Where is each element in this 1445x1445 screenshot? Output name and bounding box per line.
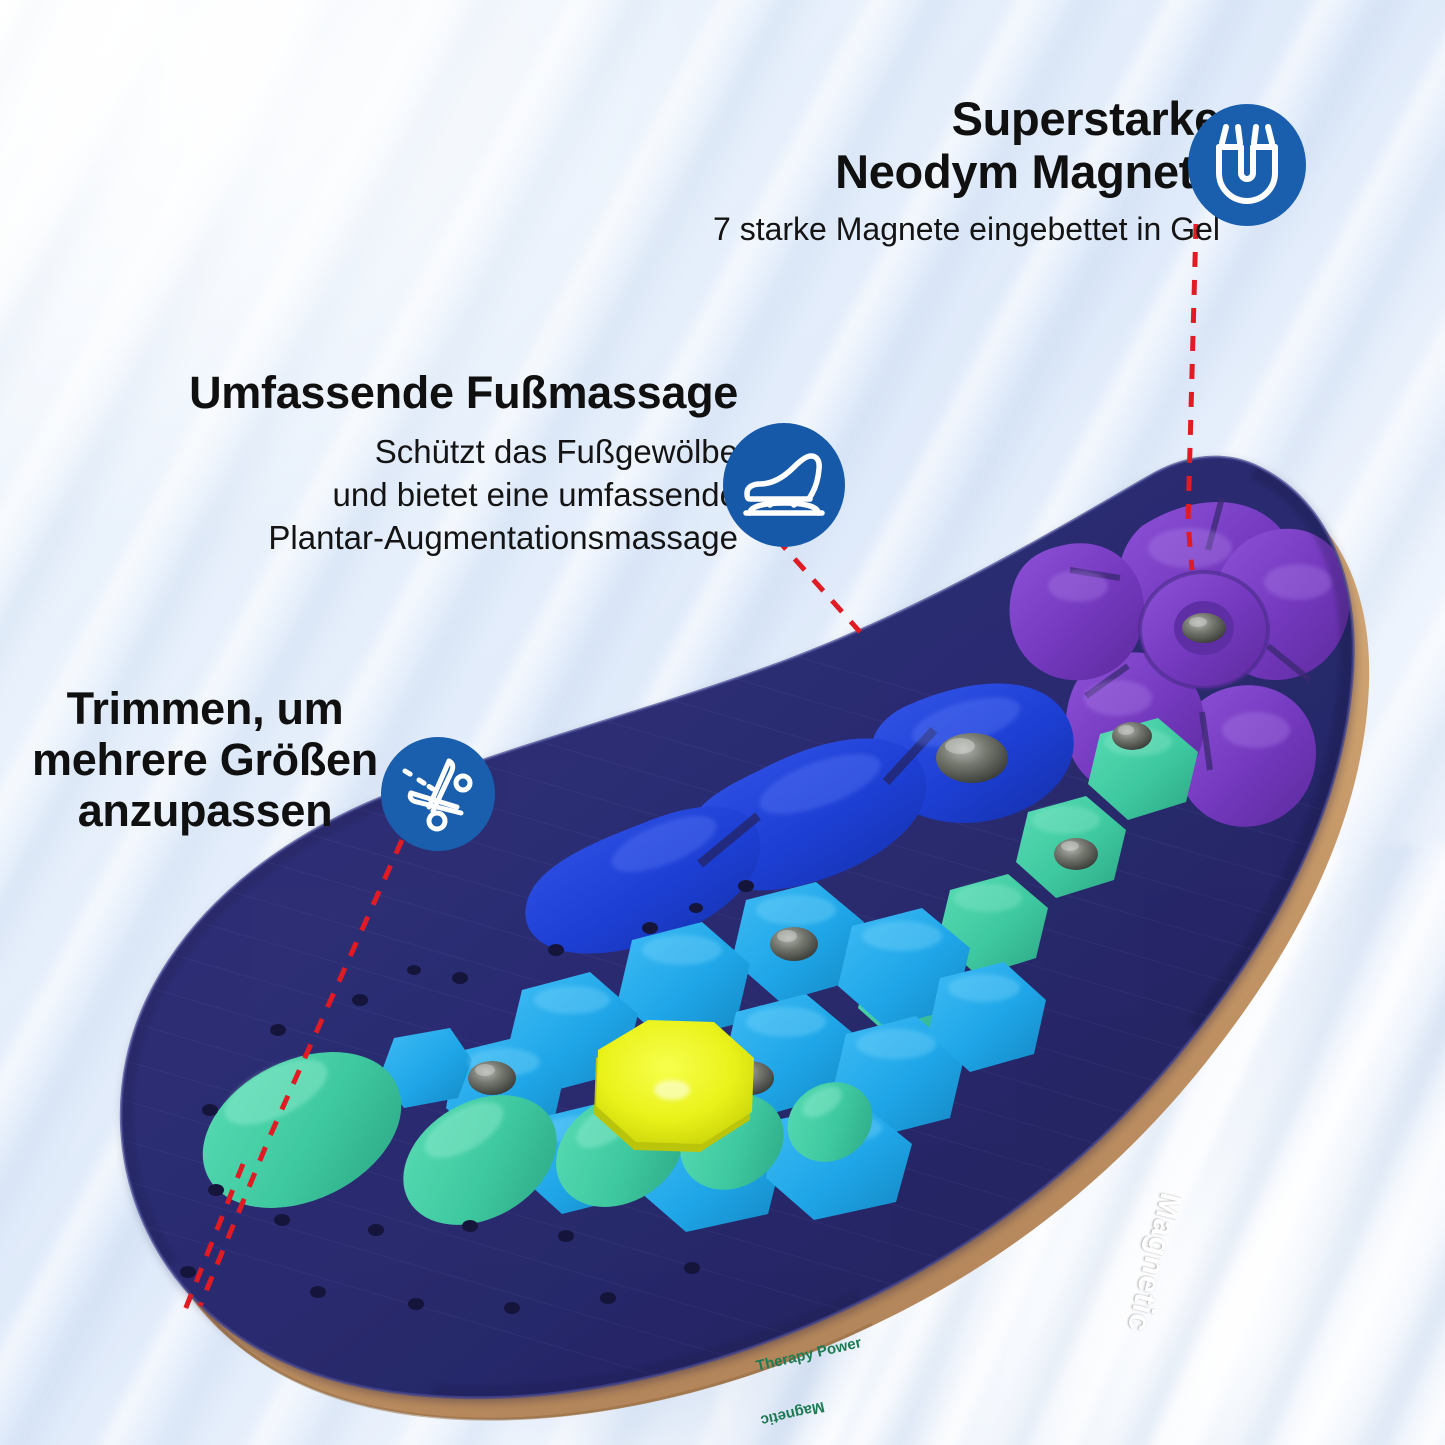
callout-massage-subtitle: Schützt das Fußgewölbe und bietet eine u…	[48, 431, 738, 560]
callout-magnets-title-line1: Superstarke	[520, 92, 1220, 145]
callout-trim: Trimmen, um mehrere Größen anzupassen	[30, 684, 380, 837]
callout-magnets-subtitle: 7 starke Magnete eingebettet in Gel	[520, 209, 1220, 251]
callout-massage-subtitle-line2: und bietet eine umfassende	[48, 474, 738, 517]
horseshoe-magnet-icon	[1188, 104, 1306, 226]
callout-trim-title: Trimmen, um mehrere Größen anzupassen	[30, 684, 380, 837]
magnet-stud	[468, 1061, 516, 1095]
foot-arch-support-icon	[723, 423, 845, 547]
callout-trim-title-line1: Trimmen, um	[30, 684, 380, 735]
magnet-stud	[1112, 722, 1152, 750]
callout-trim-title-line2: mehrere Größen	[30, 735, 380, 786]
callout-massage-title: Umfassende Fußmassage	[48, 368, 738, 419]
callout-massage-subtitle-line3: Plantar-Augmentationsmassage	[48, 517, 738, 560]
scissors-cut-icon	[381, 737, 495, 851]
callout-magnets-title: Superstarke Neodym Magnete	[520, 92, 1220, 198]
magnet-stud	[936, 733, 1008, 783]
callout-massage-subtitle-line1: Schützt das Fußgewölbe	[48, 431, 738, 474]
magnetic-therapy-power-badge	[594, 1020, 754, 1152]
callout-massage: Umfassende Fußmassage Schützt das Fußgew…	[48, 368, 738, 560]
magnet-stud	[1182, 613, 1226, 643]
callout-magnets: Superstarke Neodym Magnete 7 starke Magn…	[520, 92, 1220, 251]
callout-magnets-title-line2: Neodym Magnete	[520, 145, 1220, 198]
magnet-stud	[1054, 838, 1098, 870]
insole-illustration: Magnetic Therapy Power Magnetic	[60, 430, 1420, 1440]
magnet-stud	[770, 927, 818, 961]
product-infographic: Magnetic Therapy Power Magnetic Supersta…	[0, 0, 1445, 1445]
callout-trim-title-line3: anzupassen	[30, 786, 380, 837]
